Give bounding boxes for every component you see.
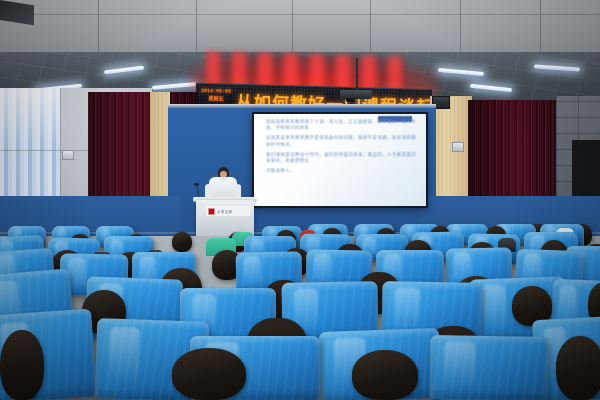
chair-fold (429, 335, 548, 400)
lecture-hall-photo: 2014-05-09 星期五 15:01:43 从如何教好一门课程谈起 目前高校… (0, 0, 600, 400)
audience-member-head (352, 350, 418, 400)
projector-mount-rod (356, 58, 358, 92)
ceiling (0, 0, 600, 58)
university-emblem-icon (208, 208, 215, 215)
projection-screen-frame: 目前高校青年教师要了少讲、充人生、工之面提高、教学能力、每人才出、学科知识的体系… (252, 112, 428, 208)
audience-member-head (556, 336, 600, 400)
microphone-icon (194, 183, 199, 186)
slide-line: 我们课程是培养设计时代，面向世界面向未来；要自的，人才都是面向未来的，来要把理念 (266, 153, 416, 166)
slide-line: 才能培养人。 (266, 169, 416, 175)
projection-screen: 目前高校青年教师要了少讲、充人生、工之面提高、教学能力、每人才出、学科知识的体系… (254, 114, 426, 206)
ceiling-projector (340, 90, 372, 99)
slide-line: 目前高校青年教师要了少讲、充人生、工之面提高、教学能力、每人才出、学科知识的体系 (266, 120, 416, 133)
auditorium-chair (429, 335, 548, 400)
slide-text: 目前高校青年教师要了少讲、充人生、工之面提高、教学能力、每人才出、学科知识的体系… (266, 120, 416, 179)
audience-member-head (172, 348, 246, 400)
wall-speaker-left (62, 150, 74, 160)
projector-lens-icon (346, 98, 355, 102)
slide-line: 这就是说青年教师教学是目前面对的问题，要想不走弯路，就必须把握好时代特点。 (266, 136, 416, 149)
podium-nameplate: 大学名称 (206, 206, 250, 216)
audience-member-head (0, 330, 44, 400)
wall-speaker-right (452, 142, 464, 152)
audience-member-head (172, 232, 192, 252)
window-light-glow (0, 88, 60, 148)
podium-nameplate-text: 大学名称 (217, 209, 248, 214)
